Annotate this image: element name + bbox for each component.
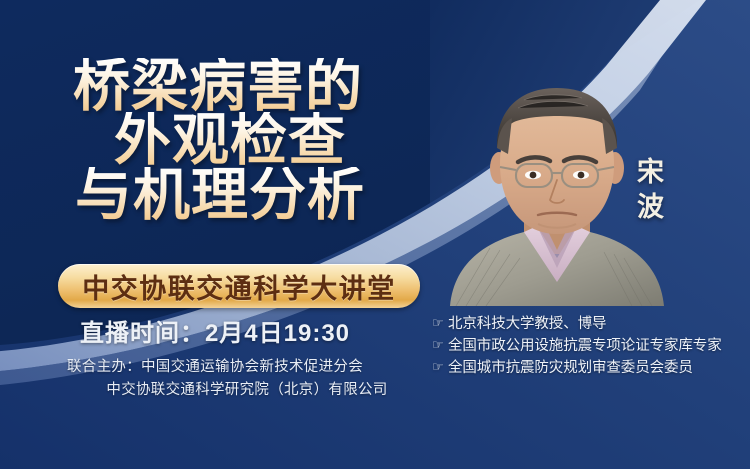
credential-item: ☞ 北京科技大学教授、博导 [432, 313, 742, 335]
series-banner-label: 中交协联交通科学大讲堂 [82, 267, 396, 306]
organizers: 联合主办：中国交通运输协会新技术促进分会 中交协联交通科学研究院（北京）有限公司 [0, 356, 430, 403]
speaker-name-char-1: 宋 [628, 155, 674, 190]
organizer-line-2: 中交协联交通科学研究院（北京）有限公司 [0, 379, 430, 402]
organizer-line-1: 联合主办：中国交通运输协会新技术促进分会 [0, 356, 430, 379]
title-line-1: 桥梁病害的 [0, 58, 430, 114]
credential-text: 全国市政公用设施抗震专项论证专家库专家 [448, 335, 722, 357]
webinar-poster: 宋 波 桥梁病害的 外观检查 与机理分析 中交协联交通科学大讲堂 直播时间：2月… [0, 0, 750, 469]
credential-item: ☞ 全国市政公用设施抗震专项论证专家库专家 [432, 335, 742, 357]
pointing-hand-icon: ☞ [432, 357, 447, 377]
series-banner: 中交协联交通科学大讲堂 [58, 264, 420, 308]
speaker-name: 宋 波 [628, 155, 674, 224]
live-time: 直播时间：2月4日19:30 [0, 313, 430, 348]
pointing-hand-icon: ☞ [432, 313, 447, 333]
credential-text: 北京科技大学教授、博导 [448, 313, 606, 335]
pointing-hand-icon: ☞ [432, 335, 447, 355]
credential-item: ☞ 全国城市抗震防灾规划审查委员会委员 [432, 357, 742, 379]
credential-text: 全国城市抗震防灾规划审查委员会委员 [448, 357, 693, 379]
speaker-credentials: ☞ 北京科技大学教授、博导 ☞ 全国市政公用设施抗震专项论证专家库专家 ☞ 全国… [432, 313, 742, 379]
title-line-2: 外观检查 [0, 112, 430, 168]
page-title: 桥梁病害的 外观检查 与机理分析 [0, 58, 430, 223]
title-line-3: 与机理分析 [0, 167, 430, 223]
speaker-name-char-2: 波 [628, 190, 674, 225]
